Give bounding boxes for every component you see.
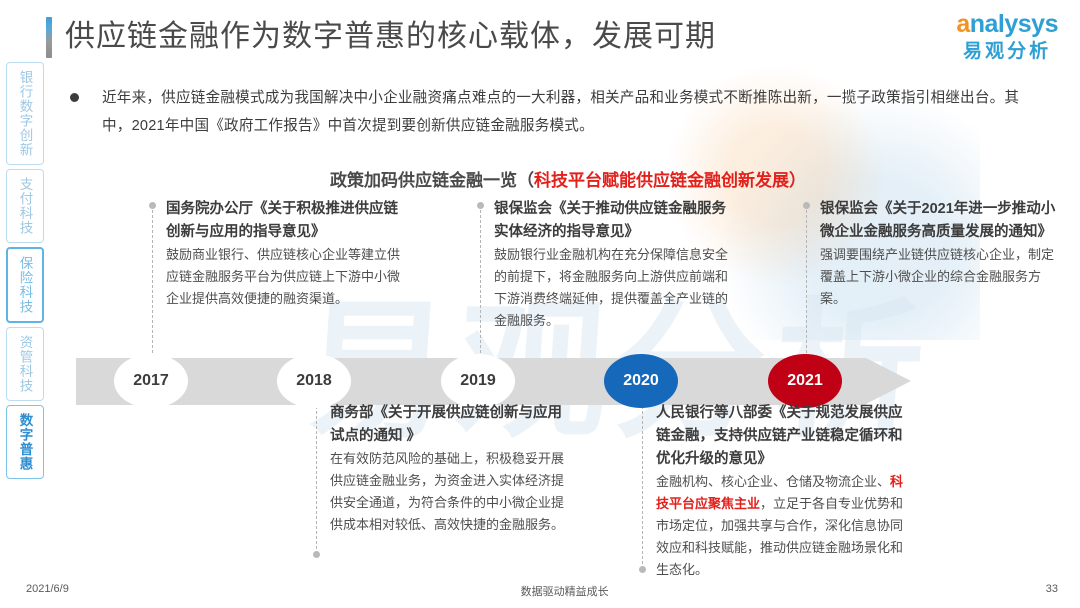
policy-card-2018: 商务部《关于开展供应链创新与应用试点的通知 》 在有效防范风险的基础上，积极稳妥… bbox=[330, 402, 566, 536]
connector-dot-2018 bbox=[313, 551, 320, 558]
policy-card-2017-heading: 国务院办公厅《关于积极推进供应链创新与应用的指导意见》 bbox=[166, 198, 402, 244]
policy-card-2019: 银保监会《关于推动供应链金融服务实体经济的指导意见》 鼓励银行业金融机构在充分保… bbox=[494, 198, 730, 332]
bullet-dot-icon bbox=[70, 93, 79, 102]
slide-root: 易观分析 供应链金融作为数字普惠的核心载体，发展可期 analysys 易观分析… bbox=[0, 0, 1080, 608]
lead-paragraph: 近年来，供应链金融模式成为我国解决中小企业融资痛点难点的一大利器，相关产品和业务… bbox=[70, 84, 1045, 140]
figure-title-tail: ） bbox=[789, 171, 806, 190]
figure-title: 政策加码供应链金融一览（科技平台赋能供应链金融创新发展） bbox=[330, 166, 806, 191]
policy-card-2018-body: 在有效防范风险的基础上，积极稳妥开展供应链金融业务，为资金进入实体经济提供安全通… bbox=[330, 448, 566, 536]
policy-card-2020-heading: 人民银行等八部委《关于规范发展供应链金融，支持供应链产业链稳定循环和优化升级的意… bbox=[656, 402, 906, 471]
timeline-node-2019[interactable]: 2019 bbox=[441, 354, 515, 408]
page-title: 供应链金融作为数字普惠的核心载体，发展可期 bbox=[46, 17, 716, 58]
footer-date: 2021/6/9 bbox=[26, 583, 69, 595]
footer: 2021/6/9 数据驱动精益成长 33 bbox=[0, 583, 1080, 599]
timeline-node-2020[interactable]: 2020 bbox=[604, 354, 678, 408]
policy-card-2020-body-pre: 金融机构、核心企业、仓储及物流企业、 bbox=[656, 474, 890, 489]
logo-subtitle: 易观分析 bbox=[956, 42, 1058, 61]
timeline-node-2018[interactable]: 2018 bbox=[277, 354, 351, 408]
sidebar-item-payment-tech-label: 支付科技 bbox=[17, 177, 34, 235]
timeline-node-2021-label: 2021 bbox=[787, 372, 823, 390]
lead-paragraph-text: 近年来，供应链金融模式成为我国解决中小企业融资痛点难点的一大利器，相关产品和业务… bbox=[102, 84, 1045, 140]
policy-card-2021: 银保监会《关于2021年进一步推动小微企业金融服务高质量发展的通知》 强调要围绕… bbox=[820, 198, 1056, 310]
sidebar-item-insurance-tech-label: 保险科技 bbox=[17, 256, 34, 314]
figure-title-main: 政策加码供应链金融一览（ bbox=[330, 171, 534, 190]
sidebar-item-payment-tech[interactable]: 支付科技 bbox=[6, 169, 44, 243]
footer-page-number: 33 bbox=[1046, 583, 1058, 595]
timeline-node-2019-label: 2019 bbox=[460, 372, 496, 390]
policy-card-2017: 国务院办公厅《关于积极推进供应链创新与应用的指导意见》 鼓励商业银行、供应链核心… bbox=[166, 198, 402, 310]
connector-2020 bbox=[642, 406, 643, 569]
policy-card-2019-body: 鼓励银行业金融机构在充分保障信息安全的前提下，将金融服务向上游供应前端和下游消费… bbox=[494, 244, 730, 332]
timeline-node-2020-label: 2020 bbox=[623, 372, 659, 390]
connector-2018 bbox=[316, 406, 317, 554]
policy-card-2021-heading: 银保监会《关于2021年进一步推动小微企业金融服务高质量发展的通知》 bbox=[820, 198, 1056, 244]
policy-card-2020: 人民银行等八部委《关于规范发展供应链金融，支持供应链产业链稳定循环和优化升级的意… bbox=[656, 402, 906, 581]
timeline-arrow-head bbox=[866, 358, 911, 404]
policy-card-2020-body: 金融机构、核心企业、仓储及物流企业、科技平台应聚焦主业，立足于各自专业优势和市场… bbox=[656, 471, 906, 581]
timeline-node-2018-label: 2018 bbox=[296, 372, 332, 390]
logo-letter-a: a bbox=[956, 10, 969, 38]
connector-2021 bbox=[806, 205, 807, 353]
policy-card-2021-body: 强调要围绕产业链供应链核心企业，制定覆盖上下游小微企业的综合金融服务方案。 bbox=[820, 244, 1056, 310]
sidebar: 银行数字创新 支付科技 保险科技 资管科技 数字普惠 bbox=[6, 62, 46, 483]
timeline-node-2017-label: 2017 bbox=[133, 372, 169, 390]
sidebar-item-asset-management-tech-label: 资管科技 bbox=[17, 335, 34, 393]
sidebar-item-bank-digital-innovation[interactable]: 银行数字创新 bbox=[6, 62, 44, 165]
connector-dot-2017 bbox=[149, 202, 156, 209]
sidebar-item-asset-management-tech[interactable]: 资管科技 bbox=[6, 327, 44, 401]
sidebar-item-digital-inclusive-finance[interactable]: 数字普惠 bbox=[6, 405, 44, 479]
connector-dot-2020 bbox=[639, 566, 646, 573]
connector-dot-2019 bbox=[477, 202, 484, 209]
logo-wordmark: analysys bbox=[956, 12, 1058, 37]
footer-slogan: 数据驱动精益成长 bbox=[521, 583, 609, 599]
logo-wordmark-rest: nalysys bbox=[970, 10, 1058, 38]
timeline-node-2021[interactable]: 2021 bbox=[768, 354, 842, 408]
connector-2017 bbox=[152, 205, 153, 353]
figure-title-highlight: 科技平台赋能供应链金融创新发展 bbox=[534, 171, 789, 190]
policy-card-2017-body: 鼓励商业银行、供应链核心企业等建立供应链金融服务平台为供应链上下游中小微企业提供… bbox=[166, 244, 402, 310]
title-accent-bar bbox=[46, 17, 52, 58]
sidebar-item-digital-inclusive-finance-label: 数字普惠 bbox=[17, 413, 34, 471]
timeline-node-2017[interactable]: 2017 bbox=[114, 354, 188, 408]
analysys-logo: analysys 易观分析 bbox=[956, 12, 1058, 61]
sidebar-item-bank-digital-innovation-label: 银行数字创新 bbox=[17, 70, 34, 157]
page-title-text: 供应链金融作为数字普惠的核心载体，发展可期 bbox=[65, 17, 716, 57]
connector-2019 bbox=[480, 205, 481, 353]
policy-card-2018-heading: 商务部《关于开展供应链创新与应用试点的通知 》 bbox=[330, 402, 566, 448]
connector-dot-2021 bbox=[803, 202, 810, 209]
sidebar-item-insurance-tech[interactable]: 保险科技 bbox=[6, 247, 44, 323]
policy-card-2019-heading: 银保监会《关于推动供应链金融服务实体经济的指导意见》 bbox=[494, 198, 730, 244]
